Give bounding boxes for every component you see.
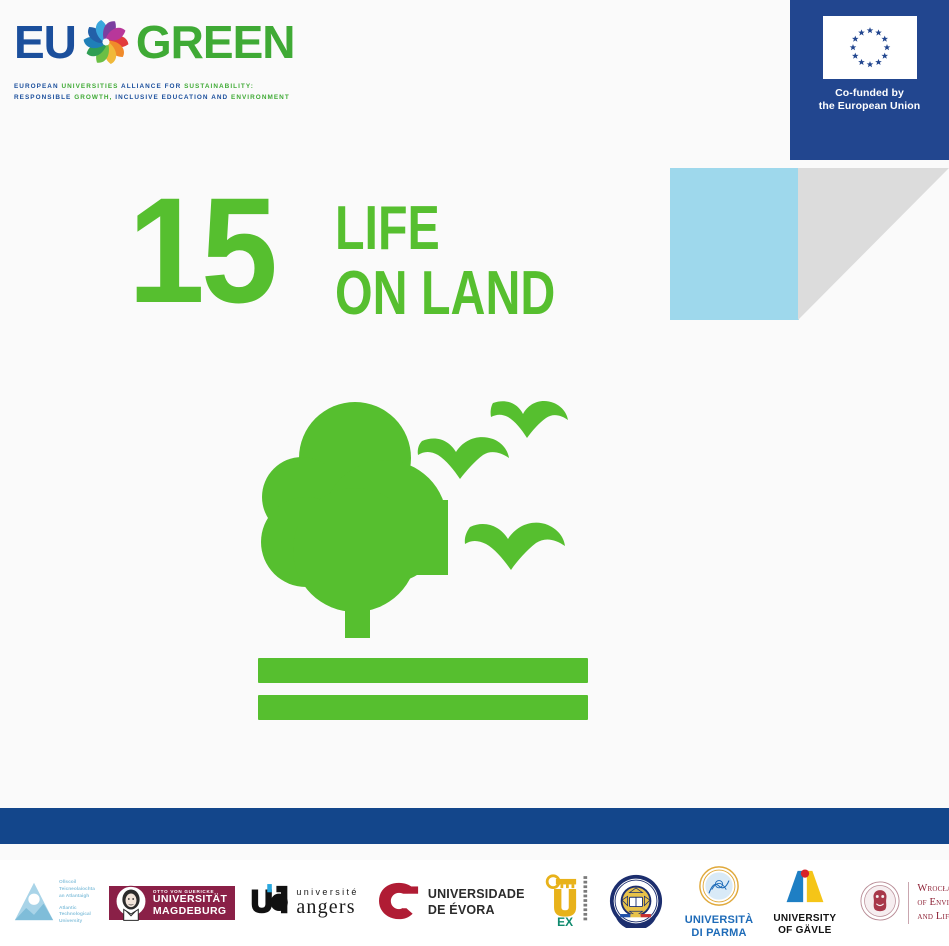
eu-caption-line-1: Co-funded by [819,87,921,100]
partner-logo-universite-angers[interactable]: université angers [249,884,359,922]
oradea-seal-icon [609,874,663,933]
eu-caption-line-2: the European Union [819,100,921,113]
tagline-word: SUSTAINABILITY: [184,83,254,90]
eu-green-logo-eu-text: EU [14,19,76,65]
tagline-word: ALLIANCE [121,83,162,90]
guericke-portrait-icon [111,884,151,924]
tagline-word: INCLUSIVE [115,94,159,101]
tagline-word: AND [211,94,228,101]
atu-line: Ollscoil [59,880,95,887]
partner-logos-strip: Ollscoil Teicneolaíochta an Atlantaigh A… [0,860,949,946]
partner-logo-universita-di-parma[interactable]: UNIVERSITÀ DI PARMA [685,866,754,940]
partner-logo-universidad-de-extremadura[interactable]: EX [543,874,589,933]
sdg-headline: 15 LIFE ON LAND [128,190,617,326]
wroclaw-seal-icon [860,881,900,926]
tagline-word: GROWTH, [74,94,112,101]
svg-text:EX: EX [557,914,573,927]
angers-text: université angers [296,888,359,918]
eu-green-logo: EU GREEN [14,14,254,103]
gavle-line-1: UNIVERSITY [773,913,836,925]
evora-crest-icon [377,881,421,926]
tagline-word: EUROPEAN [14,83,59,90]
decorative-blue-square [670,168,799,320]
atu-logo-text: Ollscoil Teicneolaíochta an Atlantaigh A… [59,880,95,927]
partner-logo-wroclaw-university[interactable]: Wrocław University of Environmental and … [860,881,949,926]
evora-line-2: DE ÉVORA [428,903,525,919]
tagline-word: UNIVERSITIES [61,83,118,90]
angers-line-2: angers [296,897,359,918]
ua-monogram-icon [249,884,291,922]
wroclaw-line-3: and Life Sciences [917,910,949,924]
eu-flag-icon [823,16,917,79]
partner-logo-atu[interactable]: Ollscoil Teicneolaíochta an Atlantaigh A… [14,880,95,927]
ovgu-line-2: UNIVERSITÄT [153,894,227,905]
parma-seal-icon [699,866,739,911]
sdg-title-line-2: ON LAND [335,261,555,326]
sdg-title-line-1: LIFE [335,196,555,261]
wroclaw-line-1: Wrocław University [917,882,949,896]
atu-line: University [59,919,95,926]
eu-green-wordmark: EU GREEN [14,14,254,70]
uex-column-icon: EX [543,874,589,933]
footer-blue-bar [0,808,949,844]
tagline-word: FOR [165,83,182,90]
sdg-number: 15 [128,190,274,310]
tagline-word: EDUCATION [162,94,209,101]
partner-logo-universitatea-din-oradea[interactable] [609,874,663,933]
ovgu-line-3: MAGDEBURG [153,906,227,917]
gavle-line-2: OF GÄVLE [773,925,836,937]
eu-funding-block: Co-funded by the European Union [790,0,949,160]
tagline-word: ENVIRONMENT [231,94,290,101]
atu-line: an Atlantaigh [59,894,95,901]
evora-line-1: UNIVERSIDADE [428,887,525,903]
multicolor-flower-icon [78,14,134,70]
partner-logo-universidade-de-evora[interactable]: UNIVERSIDADE DE ÉVORA [377,881,525,926]
gavle-text: UNIVERSITY OF GÄVLE [773,913,836,937]
tree-and-birds-icon [250,390,600,730]
parma-text: UNIVERSITÀ DI PARMA [685,914,754,940]
wroclaw-text: Wrocław University of Environmental and … [908,882,949,925]
sdg-title: LIFE ON LAND [335,196,555,326]
poster-canvas: EU GREEN [0,0,949,946]
parma-line-1: UNIVERSITÀ [685,914,754,927]
tagline-line-1: EUROPEAN UNIVERSITIES ALLIANCE FOR SUSTA… [14,82,254,93]
ovgu-text: OTTO VON GUERICKE UNIVERSITÄT MAGDEBURG [153,889,227,917]
partner-logo-university-of-gavle[interactable]: UNIVERSITY OF GÄVLE [773,869,836,937]
eu-green-logo-green-text: GREEN [136,19,295,65]
tagline-word: RESPONSIBLE [14,94,71,101]
evora-text: UNIVERSIDADE DE ÉVORA [428,887,525,918]
tagline-line-2: RESPONSIBLE GROWTH, INCLUSIVE EDUCATION … [14,93,254,104]
atu-triangle-logo-icon [14,880,54,927]
atu-line: Teicneolaíochta [59,887,95,894]
ovgu-badge: OTTO VON GUERICKE UNIVERSITÄT MAGDEBURG [109,886,235,920]
eu-funding-caption: Co-funded by the European Union [819,87,921,113]
decorative-gray-triangle [798,168,949,320]
partner-logo-ovgu-magdeburg[interactable]: OTTO VON GUERICKE UNIVERSITÄT MAGDEBURG [109,886,235,920]
gavle-arch-icon [779,869,831,909]
eu-green-tagline: EUROPEAN UNIVERSITIES ALLIANCE FOR SUSTA… [14,82,254,103]
parma-line-2: DI PARMA [685,927,754,940]
wroclaw-line-2: of Environmental [917,896,949,910]
